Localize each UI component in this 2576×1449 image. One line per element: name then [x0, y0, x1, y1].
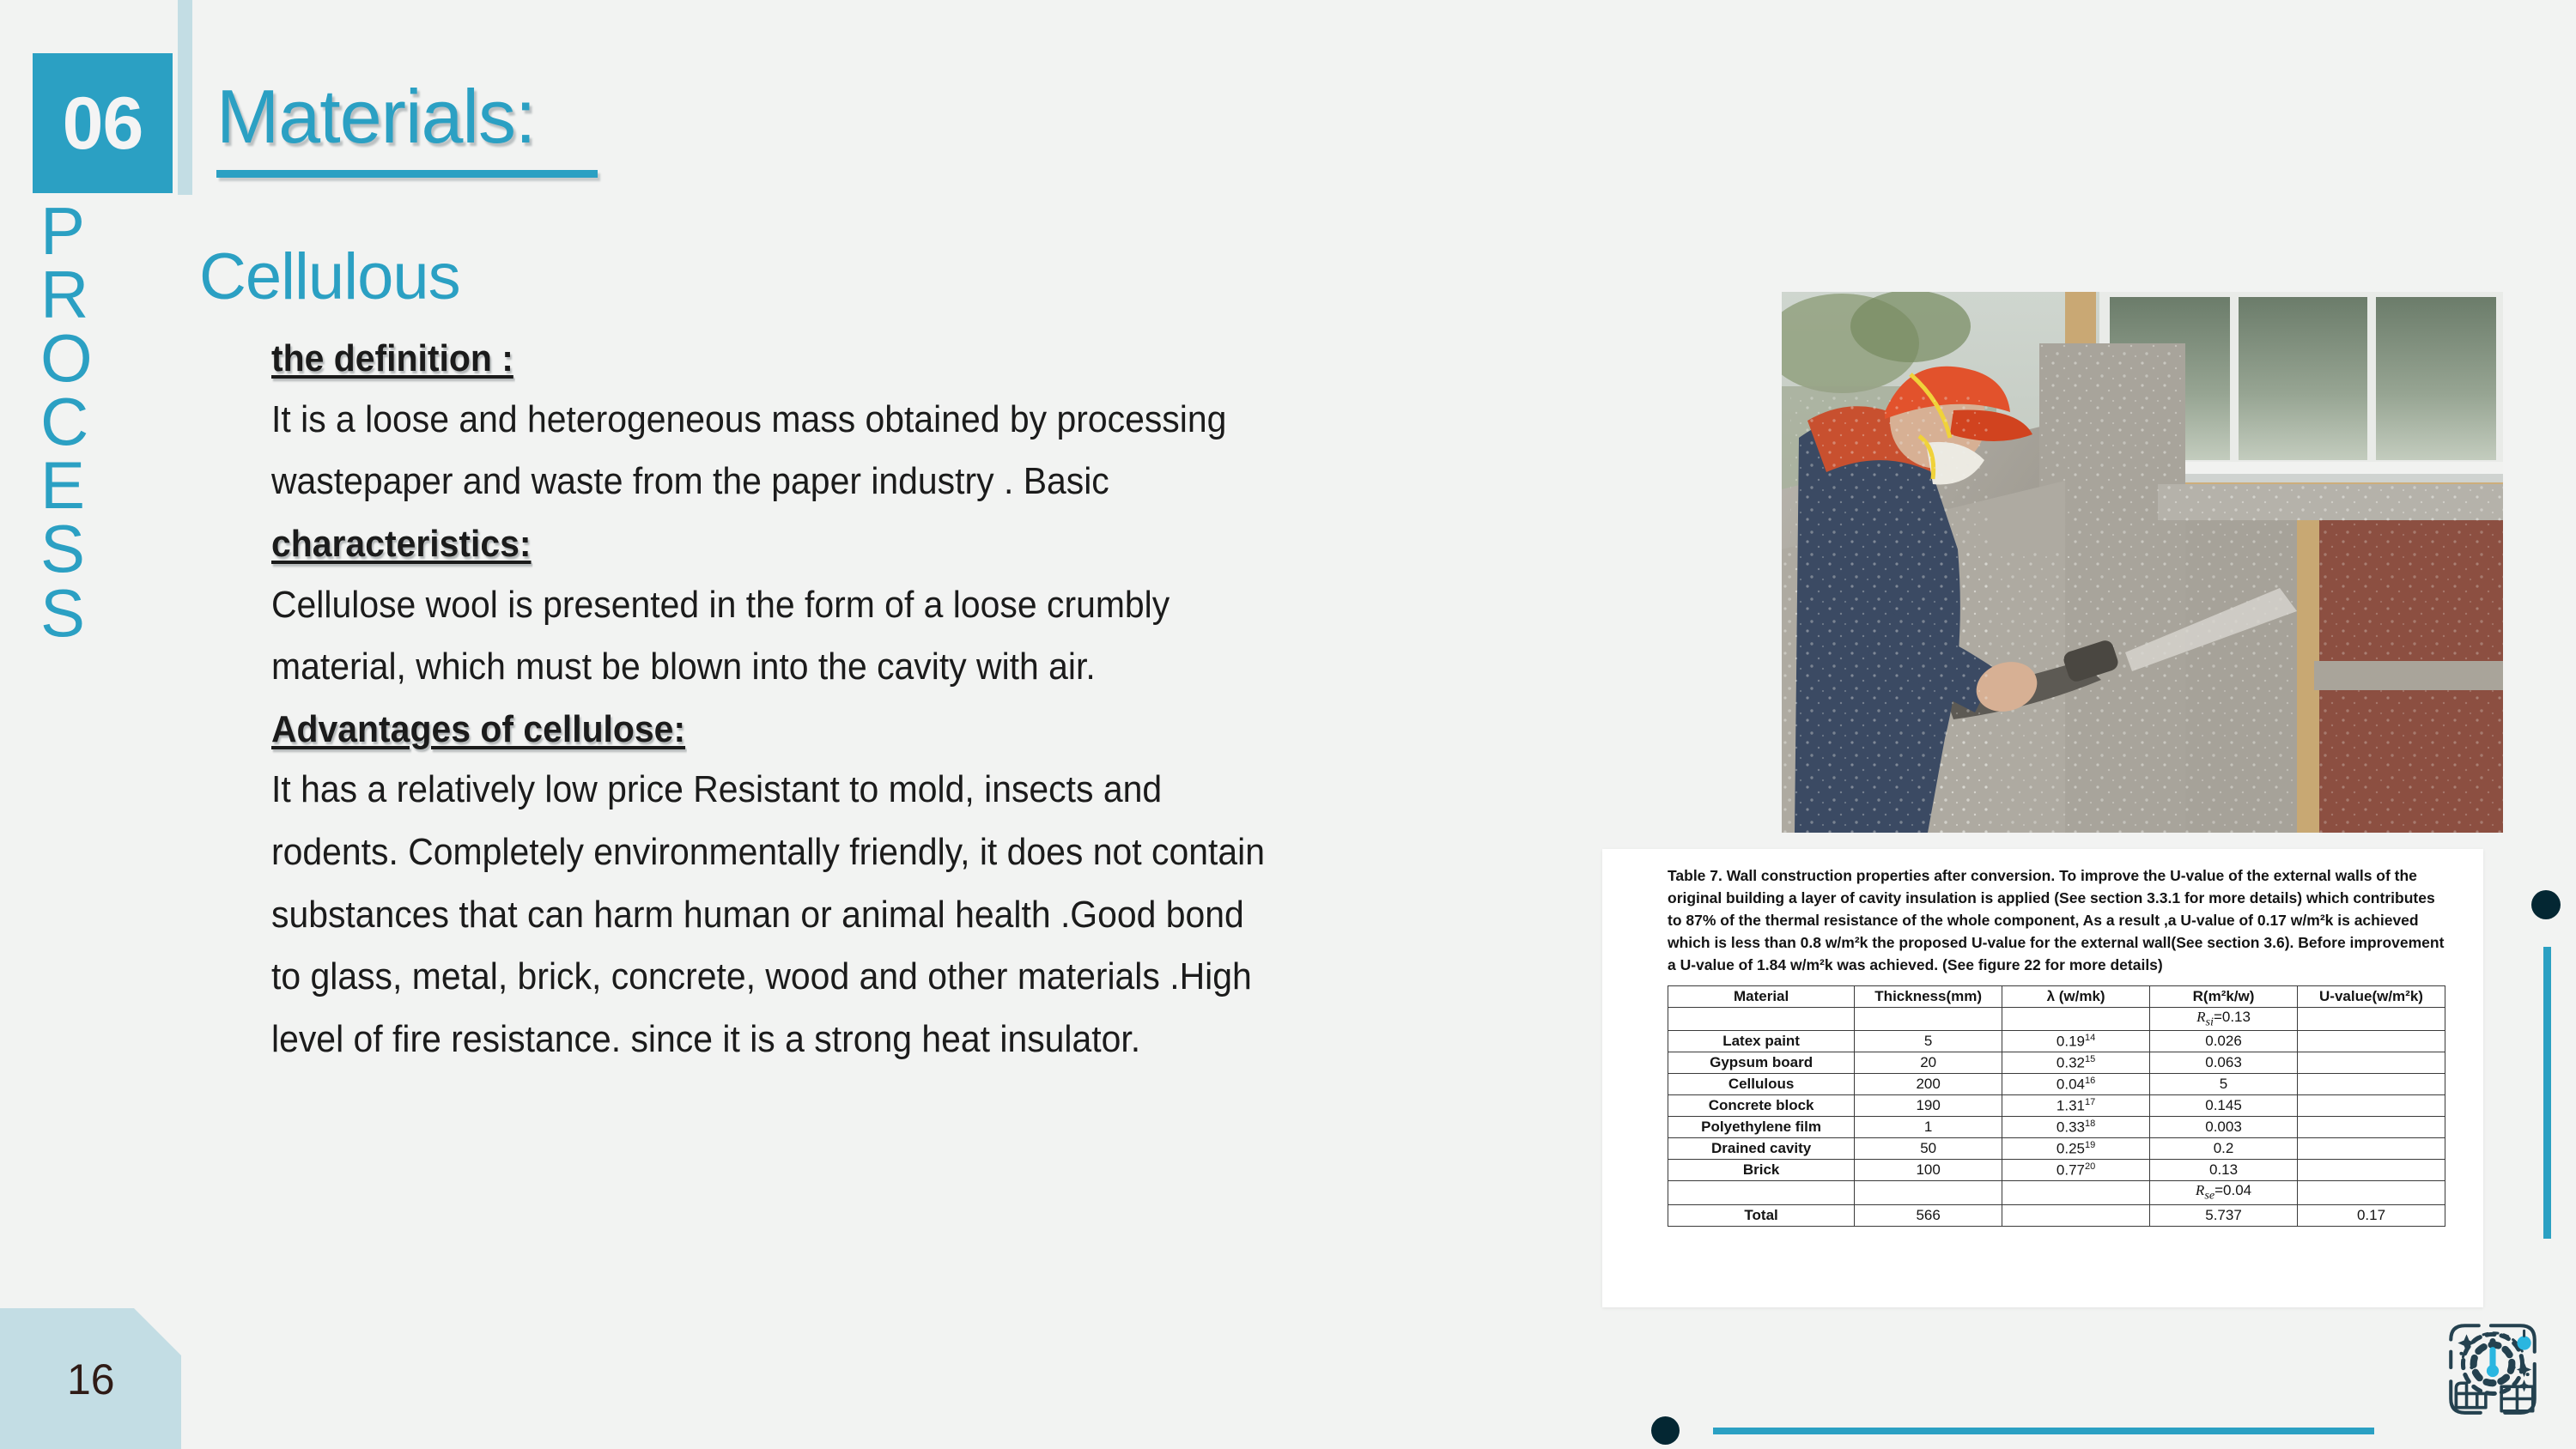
cell-material: Brick [1668, 1160, 1855, 1181]
table-header-row: MaterialThickness(mm)λ (w/mk)R(m²k/w)U-v… [1668, 986, 2445, 1008]
table-head: MaterialThickness(mm)λ (w/mk)R(m²k/w)U-v… [1668, 986, 2445, 1008]
table-caption-label: Table 7 [1668, 867, 1718, 884]
cell-u-value [2298, 1181, 2445, 1204]
table-figure-card: Table 7. Wall construction properties af… [1602, 849, 2483, 1307]
cell-r-value: 5.737 [2150, 1204, 2298, 1226]
cell-material [1668, 1008, 1855, 1031]
cell-lambda [2002, 1204, 2150, 1226]
table-col-header: λ (w/mk) [2002, 986, 2150, 1008]
cell-r-value: 0.13 [2150, 1160, 2298, 1181]
cell-lambda-reference: 15 [2085, 1054, 2095, 1064]
table-col-header: U-value(w/m²k) [2298, 986, 2445, 1008]
cell-r-value: 0.145 [2150, 1095, 2298, 1117]
table-row: Latex paint50.19140.026 [1668, 1031, 2445, 1052]
insulation-photo [1782, 292, 2503, 833]
table-caption-body: . Wall construction properties after con… [1668, 867, 2444, 973]
cell-u-value [2298, 1138, 2445, 1160]
vertical-letter-4: E [33, 453, 85, 517]
bottom-horizontal-line [1713, 1428, 2374, 1434]
cell-lambda: 0.0416 [2002, 1074, 2150, 1095]
cell-material: Latex paint [1668, 1031, 1855, 1052]
table-row: Rsi=0.13 [1668, 1008, 2445, 1031]
page-number: 16 [67, 1355, 115, 1404]
body-paragraph-line: rodents. Completely environmentally frie… [271, 823, 1469, 882]
body-text-column: the definition : It is a loose and heter… [271, 330, 1559, 1073]
cell-material: Gypsum board [1668, 1052, 1855, 1074]
cell-u-value: 0.17 [2298, 1204, 2445, 1226]
slide-canvas: 06 PROCESS 16 Materials: Cellulous the d… [0, 0, 2576, 1449]
body-paragraph-line: Cellulose wool is presented in the form … [271, 576, 1469, 635]
cell-u-value [2298, 1095, 2445, 1117]
body-subheading: Advantages of cellulose: [271, 700, 1469, 760]
body-subheading: the definition : [271, 330, 1469, 389]
page-number-tab: 16 [0, 1308, 181, 1449]
wall-properties-table: MaterialThickness(mm)λ (w/mk)R(m²k/w)U-v… [1668, 985, 2445, 1227]
vertical-letter-0: P [33, 199, 85, 263]
cell-r-value: 0.026 [2150, 1031, 2298, 1052]
cell-u-value [2298, 1160, 2445, 1181]
cell-thickness: 100 [1855, 1160, 2002, 1181]
cell-lambda-reference: 18 [2085, 1119, 2095, 1129]
cell-lambda: 0.2519 [2002, 1138, 2150, 1160]
table-row: Polyethylene film10.33180.003 [1668, 1117, 2445, 1138]
vertical-letter-6: S [33, 581, 85, 645]
body-paragraph-line: It is a loose and heterogeneous mass obt… [271, 391, 1469, 450]
vertical-letter-5: S [33, 517, 85, 580]
cell-u-value [2298, 1074, 2445, 1095]
vertical-letter-2: O [33, 326, 93, 390]
section-number: 06 [63, 87, 143, 161]
table-row: Drained cavity500.25190.2 [1668, 1138, 2445, 1160]
cell-r-value: 0.063 [2150, 1052, 2298, 1074]
body-paragraph-line: material, which must be blown into the c… [271, 638, 1469, 697]
cell-lambda-reference: 19 [2085, 1140, 2095, 1150]
cell-lambda-reference: 20 [2085, 1161, 2095, 1172]
cell-lambda: 0.1914 [2002, 1031, 2150, 1052]
cell-material: Concrete block [1668, 1095, 1855, 1117]
page-subtitle: Cellulous [199, 245, 460, 310]
table-caption: Table 7. Wall construction properties af… [1668, 865, 2445, 976]
cell-r-value: 0.003 [2150, 1117, 2298, 1138]
cell-thickness: 190 [1855, 1095, 2002, 1117]
cell-u-value [2298, 1031, 2445, 1052]
section-number-chip: 06 [33, 53, 173, 193]
table-row: Total5665.7370.17 [1668, 1204, 2445, 1226]
cell-lambda: 0.3318 [2002, 1117, 2150, 1138]
cell-thickness [1855, 1008, 2002, 1031]
table-col-header: Thickness(mm) [1855, 986, 2002, 1008]
body-paragraph-line: to glass, metal, brick, concrete, wood a… [271, 948, 1469, 1007]
cell-lambda-reference: 14 [2085, 1033, 2095, 1043]
cell-u-value [2298, 1008, 2445, 1031]
cell-lambda: 0.7720 [2002, 1160, 2150, 1181]
body-paragraph-line: wastepaper and waste from the paper indu… [271, 452, 1469, 512]
body-paragraph-line: substances that can harm human or animal… [271, 886, 1469, 945]
page-title-underline [216, 170, 598, 178]
cell-material: Cellulous [1668, 1074, 1855, 1095]
table-row: Cellulous2000.04165 [1668, 1074, 2445, 1095]
cell-r-value: Rsi=0.13 [2150, 1008, 2298, 1031]
cell-thickness: 20 [1855, 1052, 2002, 1074]
cell-lambda: 0.3215 [2002, 1052, 2150, 1074]
cell-r-value: 0.2 [2150, 1138, 2298, 1160]
cell-lambda: 1.3117 [2002, 1095, 2150, 1117]
right-edge-dot [2531, 890, 2561, 919]
page-title-text: Materials: [216, 74, 535, 159]
cell-r-value: 5 [2150, 1074, 2298, 1095]
right-edge-vertical-line [2543, 947, 2551, 1239]
cell-material [1668, 1181, 1855, 1204]
body-paragraph-line: It has a relatively low price Resistant … [271, 761, 1469, 820]
bottom-dot [1651, 1416, 1680, 1445]
body-paragraph-line: level of fire resistance. since it is a … [271, 1010, 1469, 1070]
table-col-header: Material [1668, 986, 1855, 1008]
vertical-letter-3: C [33, 390, 88, 453]
body-subheading: characteristics: [271, 515, 1469, 574]
cell-thickness: 50 [1855, 1138, 2002, 1160]
page-title: Materials: [216, 79, 598, 178]
cell-lambda [2002, 1181, 2150, 1204]
cell-thickness: 1 [1855, 1117, 2002, 1138]
cell-material: Drained cavity [1668, 1138, 1855, 1160]
cell-material: Total [1668, 1204, 1855, 1226]
cell-thickness [1855, 1181, 2002, 1204]
cell-u-value [2298, 1117, 2445, 1138]
thermal-comfort-logo-icon [2437, 1313, 2549, 1425]
cell-lambda-reference: 17 [2085, 1097, 2095, 1107]
table-row: Brick1000.77200.13 [1668, 1160, 2445, 1181]
cell-material: Polyethylene film [1668, 1117, 1855, 1138]
vertical-letter-1: R [33, 263, 88, 326]
top-accent-bar [178, 0, 192, 195]
cell-thickness: 5 [1855, 1031, 2002, 1052]
cell-thickness: 566 [1855, 1204, 2002, 1226]
cell-r-value: Rse=0.04 [2150, 1181, 2298, 1204]
cell-u-value [2298, 1052, 2445, 1074]
table-row: Rse=0.04 [1668, 1181, 2445, 1204]
cell-thickness: 200 [1855, 1074, 2002, 1095]
table-row: Concrete block1901.31170.145 [1668, 1095, 2445, 1117]
cell-lambda-reference: 16 [2085, 1076, 2095, 1086]
table-col-header: R(m²k/w) [2150, 986, 2298, 1008]
vertical-section-word: PROCESS [33, 199, 173, 645]
cell-lambda [2002, 1008, 2150, 1031]
table-body: Rsi=0.13Latex paint50.19140.026Gypsum bo… [1668, 1008, 2445, 1227]
table-row: Gypsum board200.32150.063 [1668, 1052, 2445, 1074]
